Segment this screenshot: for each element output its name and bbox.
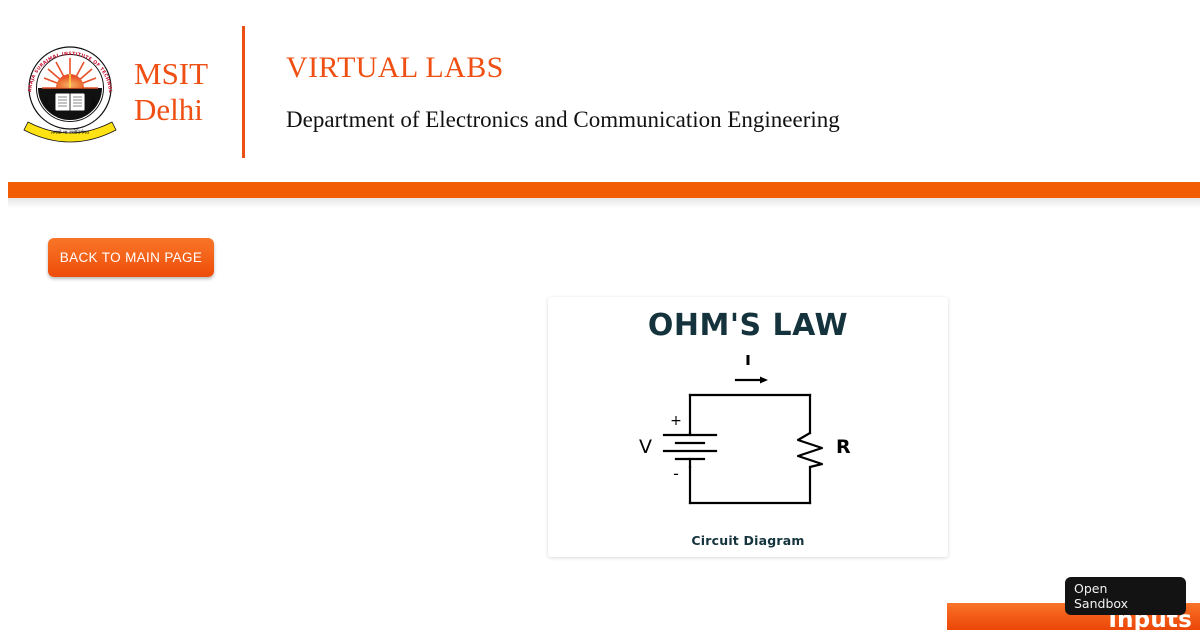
card-caption: Circuit Diagram (548, 533, 948, 548)
open-sandbox-tooltip[interactable]: Open Sandbox (1065, 577, 1186, 615)
ohms-law-card: OHM'S LAW (548, 297, 948, 557)
header-drop-shadow (8, 198, 1200, 208)
back-to-main-page-button[interactable]: BACK TO MAIN PAGE (48, 238, 214, 277)
brand-wordmark: MSIT Delhi (134, 56, 208, 128)
tooltip-line-1: Open (1074, 581, 1186, 596)
header-titles: VIRTUAL LABS Department of Electronics a… (245, 51, 840, 133)
header-accent-rule (8, 182, 1200, 198)
battery-minus-label: - (673, 464, 679, 483)
current-label: I (745, 355, 751, 369)
site-header: MAHARAJA SURAJMAL INSTITUTE OF TECHNOLOG… (8, 8, 1200, 175)
voltage-label: V (639, 436, 652, 458)
msit-logo-icon: MAHARAJA SURAJMAL INSTITUTE OF TECHNOLOG… (20, 36, 120, 148)
svg-text:तमसो मा ज्योतिर्गमय: तमसो मा ज्योतिर्गमय (51, 129, 89, 136)
brand-line-2: Delhi (134, 92, 208, 128)
brand-line-1: MSIT (134, 56, 208, 92)
card-title: OHM'S LAW (548, 308, 948, 343)
circuit-diagram-figure: I V R + - (548, 355, 948, 515)
tooltip-line-2: Sandbox (1074, 596, 1186, 611)
battery-plus-label: + (670, 413, 682, 429)
resistance-label: R (836, 436, 851, 458)
page-title: VIRTUAL LABS (286, 51, 840, 85)
page-subtitle: Department of Electronics and Communicat… (286, 107, 840, 133)
brand-block: MAHARAJA SURAJMAL INSTITUTE OF TECHNOLOG… (8, 8, 242, 175)
page-root: MAHARAJA SURAJMAL INSTITUTE OF TECHNOLOG… (0, 0, 1200, 630)
